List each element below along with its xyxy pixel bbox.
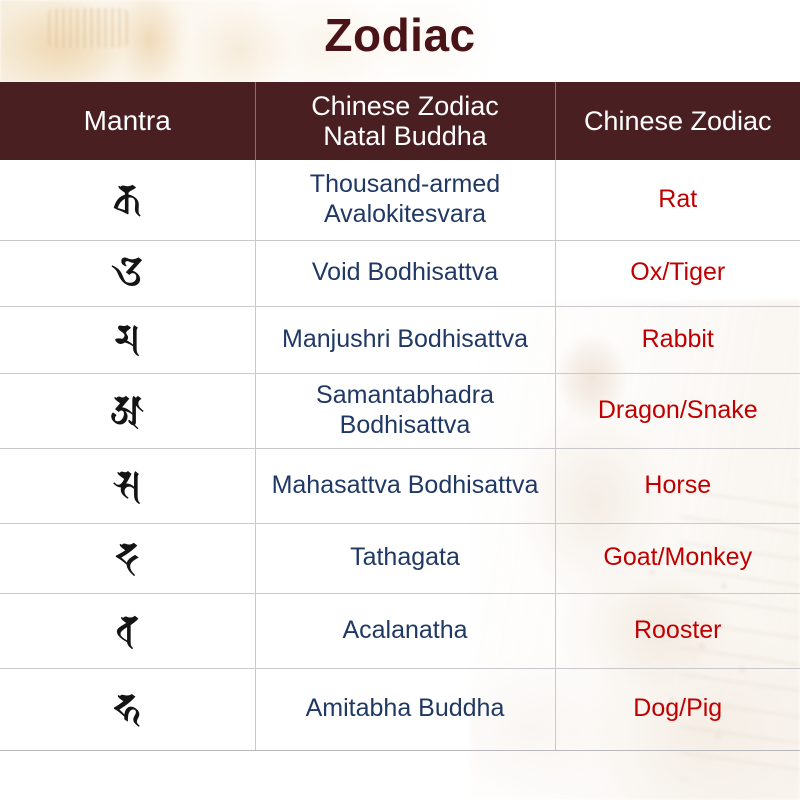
natal-buddha-cell: Acalanatha bbox=[255, 593, 555, 668]
table-row: 𑖮Amitabha BuddhaDog/Pig bbox=[0, 668, 800, 750]
natal-buddha-cell: Tathagata bbox=[255, 523, 555, 593]
mantra-cell: 𑖭 bbox=[0, 448, 255, 523]
siddham-seed-syllable-da-icon: 𑖟 bbox=[115, 537, 140, 579]
column-header-chinese-zodiac: Chinese Zodiac bbox=[555, 82, 800, 160]
table-row: 𑖌Void BodhisattvaOx/Tiger bbox=[0, 240, 800, 306]
siddham-seed-syllable-man-icon: 𑖦 bbox=[114, 319, 141, 361]
natal-buddha-cell: Manjushri Bodhisattva bbox=[255, 306, 555, 373]
table-row: 𑖪AcalanathaRooster bbox=[0, 593, 800, 668]
title-bar: Zodiac bbox=[0, 0, 800, 82]
mantra-cell: 𑖮 bbox=[0, 668, 255, 750]
natal-buddha-cell: Amitabha Buddha bbox=[255, 668, 555, 750]
zodiac-poster: Zodiac Mantra Chinese Zodiac Natal Buddh… bbox=[0, 0, 800, 800]
mantra-cell: 𑖦 bbox=[0, 306, 255, 373]
chinese-zodiac-cell: Dragon/Snake bbox=[555, 373, 800, 448]
chinese-zodiac-cell: Goat/Monkey bbox=[555, 523, 800, 593]
mantra-cell: 𑖁 bbox=[0, 373, 255, 448]
table-row: 𑖭Mahasattva BodhisattvaHorse bbox=[0, 448, 800, 523]
column-header-natal-buddha-line1: Chinese Zodiac bbox=[311, 91, 499, 121]
natal-buddha-cell: Thousand-armed Avalokitesvara bbox=[255, 160, 555, 240]
table-header: Mantra Chinese Zodiac Natal Buddha Chine… bbox=[0, 82, 800, 160]
siddham-seed-syllable-hrih-2-icon: 𑖮 bbox=[113, 688, 141, 730]
chinese-zodiac-cell: Rat bbox=[555, 160, 800, 240]
natal-buddha-cell: Void Bodhisattva bbox=[255, 240, 555, 306]
column-header-mantra: Mantra bbox=[0, 82, 255, 160]
page-title: Zodiac bbox=[0, 8, 800, 62]
column-header-natal-buddha-line2: Natal Buddha bbox=[323, 121, 487, 151]
table-row: 𑖟TathagataGoat/Monkey bbox=[0, 523, 800, 593]
table-body: 𑖎Thousand-armed AvalokitesvaraRat𑖌Void B… bbox=[0, 160, 800, 750]
chinese-zodiac-cell: Dog/Pig bbox=[555, 668, 800, 750]
chinese-zodiac-cell: Horse bbox=[555, 448, 800, 523]
mantra-cell: 𑖟 bbox=[0, 523, 255, 593]
column-header-natal-buddha: Chinese Zodiac Natal Buddha bbox=[255, 82, 555, 160]
table-row: 𑖦Manjushri BodhisattvaRabbit bbox=[0, 306, 800, 373]
mantra-cell: 𑖪 bbox=[0, 593, 255, 668]
siddham-seed-syllable-tram-icon: 𑖌 bbox=[111, 252, 143, 294]
mantra-cell: 𑖎 bbox=[0, 160, 255, 240]
siddham-seed-syllable-hrih-icon: 𑖎 bbox=[112, 179, 142, 221]
chinese-zodiac-cell: Ox/Tiger bbox=[555, 240, 800, 306]
siddham-seed-syllable-sa-icon: 𑖭 bbox=[113, 465, 142, 507]
natal-buddha-cell: Samantabhadra Bodhisattva bbox=[255, 373, 555, 448]
zodiac-table: Mantra Chinese Zodiac Natal Buddha Chine… bbox=[0, 82, 800, 751]
siddham-seed-syllable-ah-icon: 𑖁 bbox=[110, 390, 144, 432]
siddham-seed-syllable-va-icon: 𑖪 bbox=[115, 610, 139, 652]
chinese-zodiac-cell: Rabbit bbox=[555, 306, 800, 373]
chinese-zodiac-cell: Rooster bbox=[555, 593, 800, 668]
table-header-row: Mantra Chinese Zodiac Natal Buddha Chine… bbox=[0, 82, 800, 160]
table-row: 𑖎Thousand-armed AvalokitesvaraRat bbox=[0, 160, 800, 240]
natal-buddha-cell: Mahasattva Bodhisattva bbox=[255, 448, 555, 523]
table-row: 𑖁Samantabhadra BodhisattvaDragon/Snake bbox=[0, 373, 800, 448]
mantra-cell: 𑖌 bbox=[0, 240, 255, 306]
